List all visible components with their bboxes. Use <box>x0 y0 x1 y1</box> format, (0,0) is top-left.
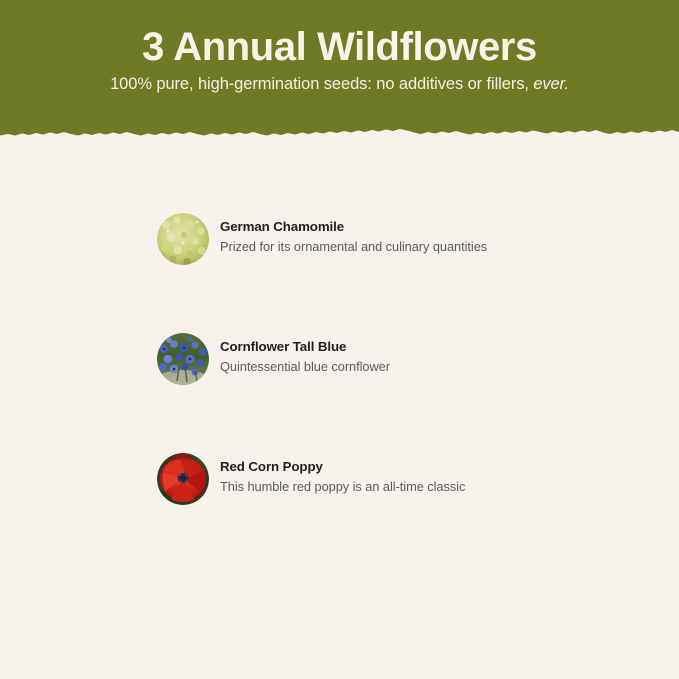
list-item-text: Cornflower Tall Blue Quintessential blue… <box>220 338 630 375</box>
flower-name: German Chamomile <box>220 218 630 236</box>
list-item[interactable]: German Chamomile Prized for its ornament… <box>157 213 637 265</box>
flower-name: Cornflower Tall Blue <box>220 338 630 356</box>
list-item[interactable]: Cornflower Tall Blue Quintessential blue… <box>157 333 637 385</box>
list-item-text: Red Corn Poppy This humble red poppy is … <box>220 458 630 495</box>
cornflower-tall-blue-photo <box>157 333 209 385</box>
page-subtitle: 100% pure, high-germination seeds: no ad… <box>0 69 679 94</box>
wildflower-list: German Chamomile Prized for its ornament… <box>157 213 637 505</box>
red-corn-poppy-photo <box>157 453 209 505</box>
page-title: 3 Annual Wildflowers <box>0 0 679 69</box>
subtitle-emphasis-text: ever. <box>533 75 569 93</box>
banner-content: 3 Annual Wildflowers 100% pure, high-ger… <box>0 0 679 94</box>
torn-paper-edge <box>0 121 679 142</box>
subtitle-main-text: 100% pure, high-germination seeds: no ad… <box>110 75 533 93</box>
flower-description: Quintessential blue cornflower <box>220 356 630 375</box>
flower-name: Red Corn Poppy <box>220 458 630 476</box>
flower-description: Prized for its ornamental and culinary q… <box>220 236 630 255</box>
flower-description: This humble red poppy is an all-time cla… <box>220 476 630 495</box>
list-item[interactable]: Red Corn Poppy This humble red poppy is … <box>157 453 637 505</box>
list-item-text: German Chamomile Prized for its ornament… <box>220 218 630 255</box>
german-chamomile-photo <box>157 213 209 265</box>
header-banner: 3 Annual Wildflowers 100% pure, high-ger… <box>0 0 679 142</box>
